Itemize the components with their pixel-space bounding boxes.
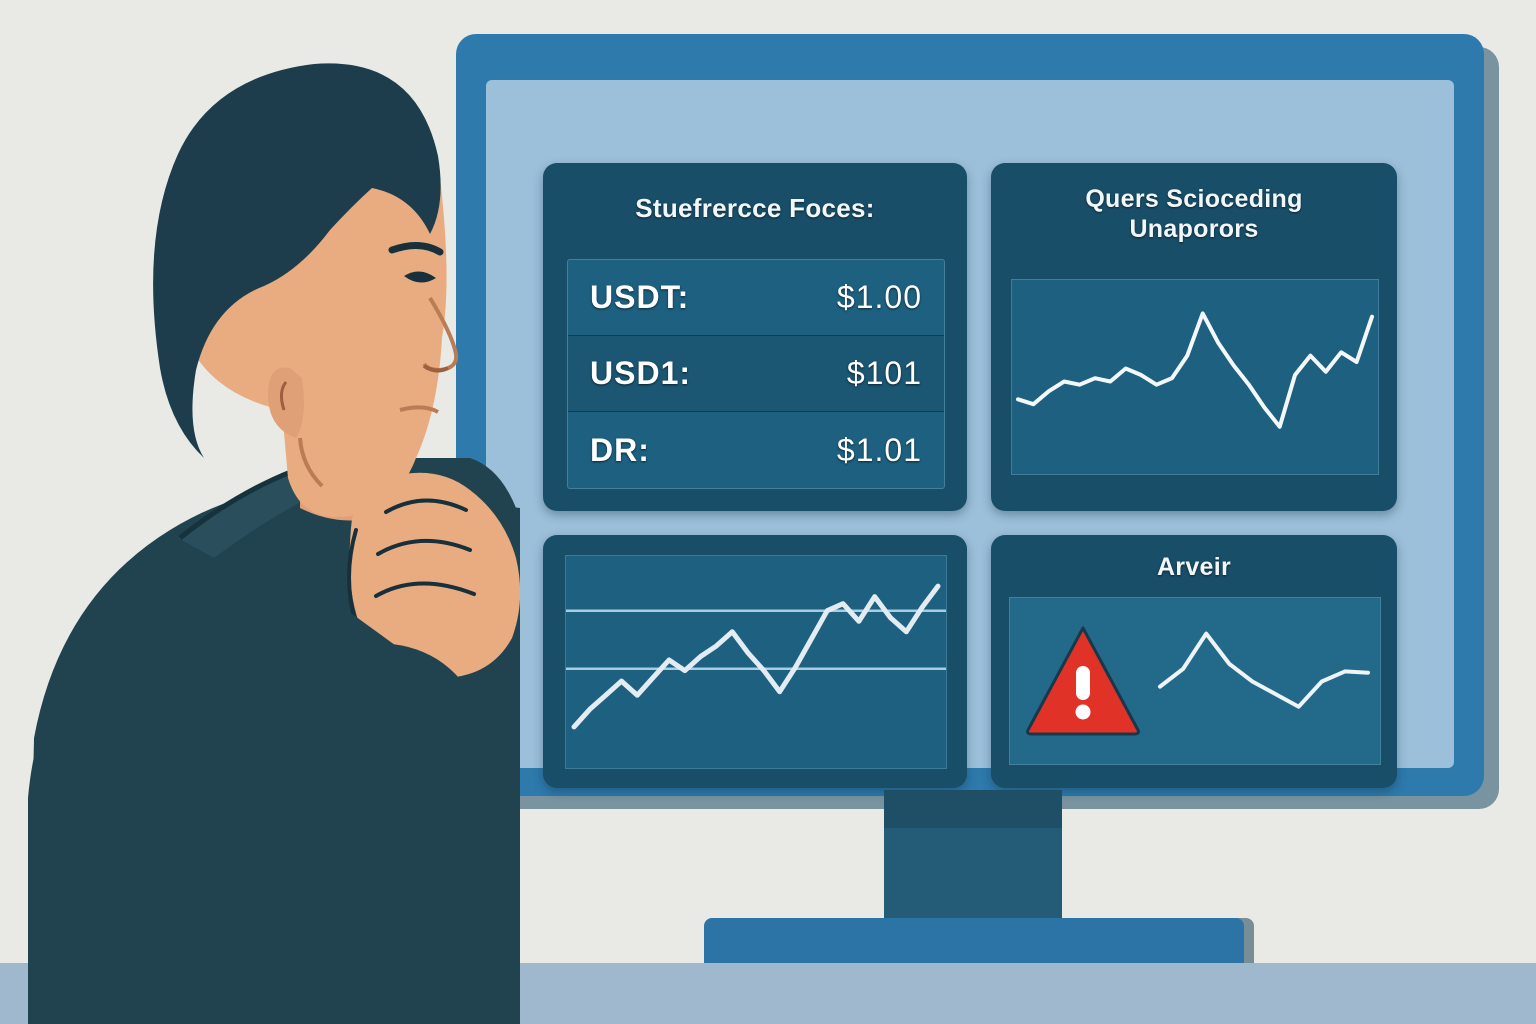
table-row[interactable]: USDT: $1.00 [568,260,944,336]
monitor-base [704,918,1244,963]
price-row-value: $101 [847,355,922,392]
price-row-label: DR: [590,432,650,469]
person-illustration [0,38,560,1024]
trend-chart-plot-area [1011,279,1379,475]
trend-title-line-2: Unaporors [1129,215,1258,243]
alert-line-chart [1010,598,1380,764]
price-row-label: USDT: [590,279,689,316]
price-row-value: $1.01 [837,432,922,469]
big-chart-plot-area [565,555,947,769]
dashboard: Stuefrercce Foces: USDT: $1.00 USD1: $10… [486,80,1454,768]
table-row[interactable]: USD1: $101 [568,336,944,412]
price-row-value: $1.00 [837,279,922,316]
person-sleeve [300,643,486,1024]
big-line-chart [566,556,946,768]
alert-chart-plot-area [1009,597,1381,765]
table-row[interactable]: DR: $1.01 [568,412,944,488]
price-table: USDT: $1.00 USD1: $101 DR: $1.01 [567,259,945,489]
monitor-screen: Stuefrercce Foces: USDT: $1.00 USD1: $10… [486,80,1454,768]
trend-chart-title: Quers Scioceding Unaporors [1005,185,1383,244]
panel-price-table[interactable]: Stuefrercce Foces: USDT: $1.00 USD1: $10… [543,163,967,511]
alert-panel-title: Arveir [991,553,1397,583]
monitor-neck-shadow [884,790,1062,828]
price-row-label: USD1: [590,355,691,392]
trend-title-line-1: Quers Scioceding [1085,185,1302,213]
monitor: Stuefrercce Foces: USDT: $1.00 USD1: $10… [456,34,1484,796]
panel-trend-chart[interactable]: Quers Scioceding Unaporors [991,163,1397,511]
panel-big-chart[interactable] [543,535,967,788]
panel-alert[interactable]: Arveir [991,535,1397,788]
desk-surface-front [430,963,1536,1024]
trend-line-chart [1012,280,1378,474]
person-ear [268,368,304,438]
price-table-title: Stuefrercce Foces: [543,193,967,224]
scene-canvas: Stuefrercce Foces: USDT: $1.00 USD1: $10… [0,0,1536,1024]
